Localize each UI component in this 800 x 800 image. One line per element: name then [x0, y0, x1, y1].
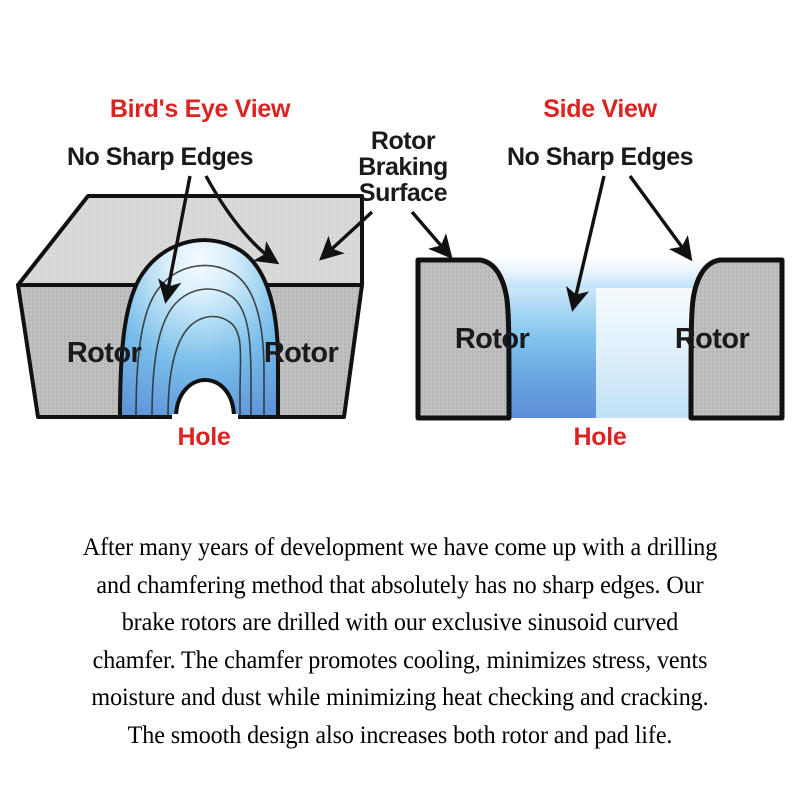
left-rotor-label-right: Rotor — [264, 337, 339, 369]
rotor-braking-surface-label-line1: Rotor — [371, 127, 436, 155]
caption-line-5: moisture and dust while minimizing heat … — [30, 678, 771, 716]
side-hole-label: Hole — [574, 423, 627, 451]
left-no-sharp-edges-label: No Sharp Edges — [67, 143, 253, 171]
birds-eye-view-title: Bird's Eye View — [110, 95, 291, 123]
caption-line-1: After many years of development we have … — [30, 528, 771, 566]
caption-paragraph: After many years of development we have … — [8, 528, 792, 753]
side-rotor-label-right: Rotor — [675, 323, 750, 355]
side-view-diagram: Side View No Sharp Edges Rotor Rotor Hol… — [412, 95, 784, 451]
side-rotor-label-left: Rotor — [455, 323, 530, 355]
rotor-braking-surface-label-line3: Surface — [359, 179, 448, 207]
birds-eye-view-diagram: Bird's Eye View No Sharp Edges Rotor Bra… — [18, 95, 448, 451]
right-no-sharp-edges-arrow-right — [630, 176, 690, 258]
caption-line-2: and chamfering method that absolutely ha… — [30, 566, 771, 604]
left-hole-label: Hole — [178, 423, 231, 451]
caption-line-6: The smooth design also increases both ro… — [30, 716, 771, 754]
right-no-sharp-edges-label: No Sharp Edges — [507, 143, 693, 171]
side-view-title: Side View — [543, 95, 657, 123]
rotor-braking-surface-label-line2: Braking — [358, 153, 448, 181]
hole-opening-mask — [172, 414, 238, 422]
caption-line-4: chamfer. The chamfer promotes cooling, m… — [30, 641, 771, 679]
diagram-page: Bird's Eye View No Sharp Edges Rotor Bra… — [0, 0, 800, 800]
left-rotor-label-left: Rotor — [67, 337, 142, 369]
caption-line-3: brake rotors are drilled with our exclus… — [30, 603, 771, 641]
rotor-braking-surface-arrow-right — [412, 212, 450, 256]
